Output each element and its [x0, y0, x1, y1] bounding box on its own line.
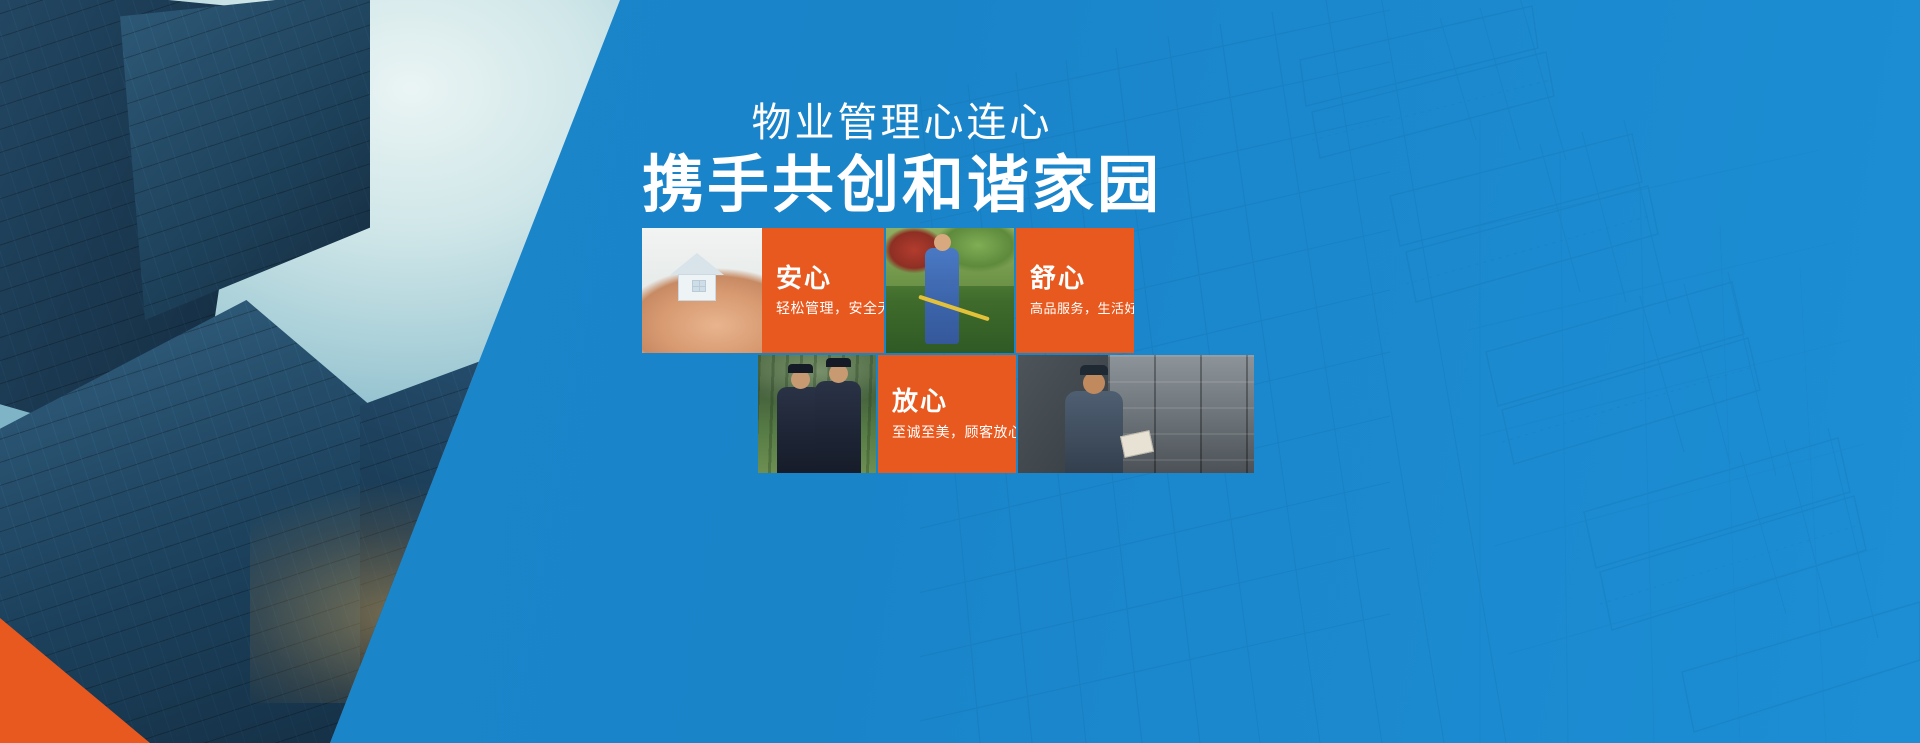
card-fangxin-title: 放心: [892, 387, 1016, 416]
card-anxin-desc: 轻松管理，安全无忧: [776, 300, 884, 317]
card-fangxin[interactable]: 放心 至诚至美，顾客放心: [878, 355, 1016, 473]
gardener-trimming-hedge-photo: [886, 228, 1014, 353]
banner-headline: 携手共创和谐家园: [632, 151, 1172, 220]
card-fangxin-desc: 至诚至美，顾客放心: [892, 424, 1016, 441]
clipboard-icon: [1120, 430, 1154, 458]
guard-figure: [815, 381, 861, 473]
gardener-figure: [925, 248, 959, 344]
technician-electrical-panel-photo: [1018, 355, 1254, 473]
house-icon: [670, 253, 724, 301]
card-shuxin-title: 舒心: [1030, 264, 1134, 293]
feature-collage: 安心 轻松管理，安全无忧 舒心 高品服务，生活好管家 放心 至诚至美，顾客放心: [642, 228, 1252, 473]
banner-subtitle: 物业管理心连心: [632, 100, 1172, 147]
banner-copy: 物业管理心连心 携手共创和谐家园: [632, 100, 1172, 221]
card-anxin[interactable]: 安心 轻松管理，安全无忧: [762, 228, 884, 353]
card-shuxin-desc: 高品服务，生活好管家: [1030, 301, 1134, 317]
card-shuxin[interactable]: 舒心 高品服务，生活好管家: [1016, 228, 1134, 353]
technician-figure: [1065, 391, 1123, 473]
card-anxin-title: 安心: [776, 264, 884, 293]
security-guards-photo: [758, 355, 876, 473]
property-management-banner: 物业管理心连心 携手共创和谐家园 安心 轻松管理，安全无忧: [0, 0, 1920, 743]
house-in-hands-photo: [642, 228, 762, 353]
